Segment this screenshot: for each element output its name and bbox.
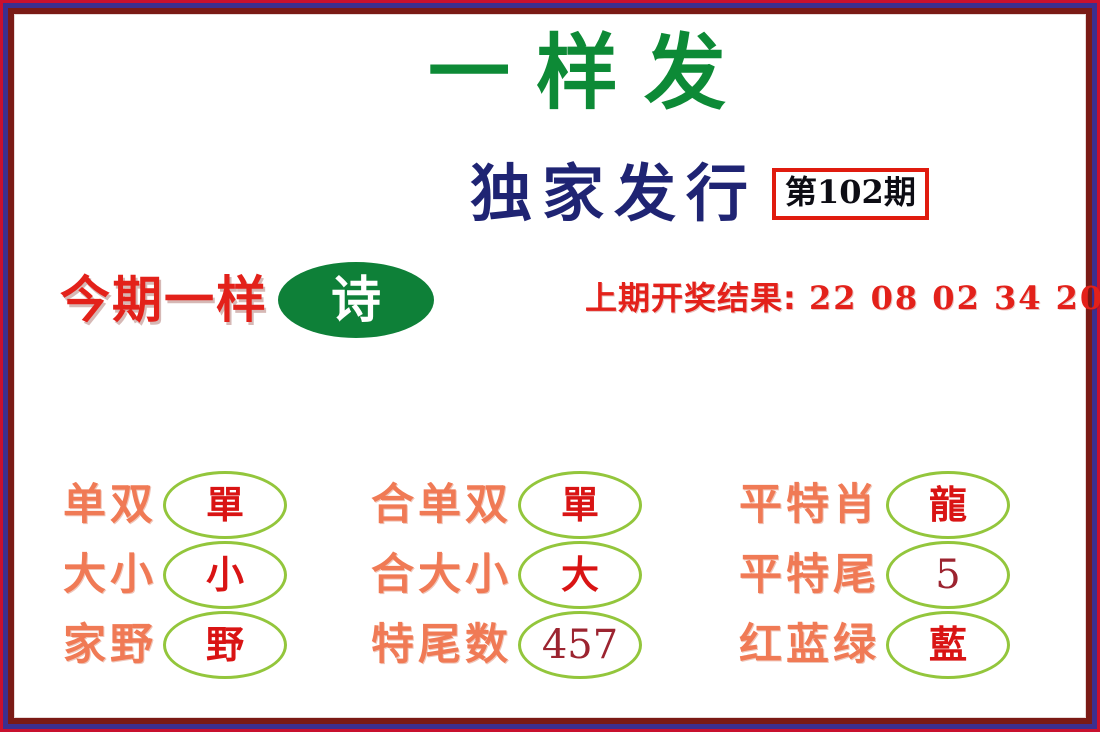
current-issue-hint-row: 今期一样 诗 — [60, 262, 434, 338]
prediction-cell: 平特肖 龍 — [723, 470, 1075, 540]
prediction-oval: 單 — [163, 471, 287, 539]
prediction-label: 红蓝绿 — [739, 624, 880, 667]
prediction-value: 龍 — [929, 486, 967, 524]
prediction-cell: 大小 小 — [45, 540, 363, 610]
current-issue-hint-bubble: 诗 — [278, 262, 434, 338]
subtitle: 独家发行 — [470, 163, 758, 225]
prediction-oval: 457 — [518, 611, 642, 679]
prediction-cell: 合单双 單 — [363, 470, 723, 540]
prediction-oval: 龍 — [886, 471, 1010, 539]
last-draw-numbers: 22 08 02 34 20 12+39 — [809, 279, 1100, 317]
prediction-oval: 5 — [886, 541, 1010, 609]
prediction-value: 小 — [206, 556, 244, 594]
prediction-oval: 小 — [163, 541, 287, 609]
prediction-cell: 红蓝绿 藍 — [723, 610, 1075, 680]
prediction-label: 单双 — [63, 484, 157, 527]
last-draw-result: 上期开奖结果: 22 08 02 34 20 12+39 — [585, 273, 1100, 319]
current-issue-hint-label: 今期一样 — [60, 275, 268, 325]
prediction-grid: 单双 單 合单双 單 平特肖 龍 大小 小 — [45, 470, 1075, 680]
prediction-cell: 合大小 大 — [363, 540, 723, 610]
prediction-value: 藍 — [929, 626, 967, 664]
prediction-label: 家野 — [63, 624, 157, 667]
issue-badge: 第102期 — [772, 168, 929, 220]
brand-title: 一样发 — [310, 33, 870, 115]
prediction-value: 457 — [542, 625, 618, 665]
prediction-label: 合大小 — [371, 554, 512, 597]
last-draw-label: 上期开奖结果: — [585, 279, 797, 317]
prediction-value: 單 — [206, 486, 244, 524]
prediction-label: 合单双 — [371, 484, 512, 527]
prediction-label: 大小 — [63, 554, 157, 597]
prediction-cell: 家野 野 — [45, 610, 363, 680]
prediction-value: 5 — [935, 555, 960, 595]
lottery-poster: 一样发 独家发行 第102期 今期一样 诗 上期开奖结果: 22 08 02 3… — [0, 0, 1100, 732]
prediction-value: 單 — [561, 486, 599, 524]
prediction-oval: 單 — [518, 471, 642, 539]
prediction-label: 平特肖 — [739, 484, 880, 527]
prediction-label: 特尾数 — [371, 624, 512, 667]
poster-canvas: 一样发 独家发行 第102期 今期一样 诗 上期开奖结果: 22 08 02 3… — [15, 15, 1085, 717]
subtitle-row: 独家发行 第102期 — [470, 163, 929, 225]
prediction-value: 大 — [561, 556, 599, 594]
prediction-oval: 大 — [518, 541, 642, 609]
prediction-cell: 平特尾 5 — [723, 540, 1075, 610]
prediction-oval: 野 — [163, 611, 287, 679]
prediction-label: 平特尾 — [739, 554, 880, 597]
prediction-oval: 藍 — [886, 611, 1010, 679]
prediction-value: 野 — [206, 626, 244, 664]
prediction-cell: 单双 單 — [45, 470, 363, 540]
prediction-cell: 特尾数 457 — [363, 610, 723, 680]
